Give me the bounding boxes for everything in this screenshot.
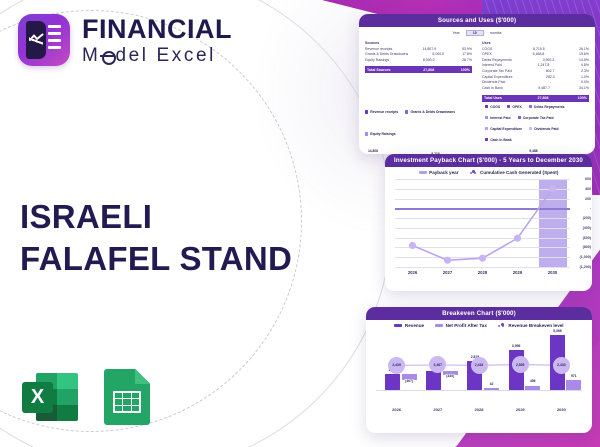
- investment-payback-title: Investment Payback Chart ($'000) - 5 Yea…: [385, 154, 592, 167]
- control-year-label: Year: [452, 31, 459, 35]
- uses-label: Cash in Bank: [482, 86, 503, 92]
- logo-list-lines-icon: [48, 25, 62, 55]
- payback-y-tick: -: [590, 206, 591, 210]
- payback-y-tick: (1,200): [580, 265, 591, 269]
- breakeven-net-profit-bar: (330): [443, 371, 458, 375]
- brand-wordmark: FINANCIAL M del Excel: [82, 16, 232, 65]
- legend-item-payback-year: Payback year: [419, 170, 459, 175]
- page-title-line2: FALAFEL STAND: [20, 238, 330, 280]
- legend-swatch-cumulative-cash: [470, 172, 478, 174]
- payback-y-tick: (600): [583, 236, 591, 240]
- uses-legend-item: Cash in Bank: [485, 138, 512, 142]
- legend-label-payback-year: Payback year: [429, 170, 458, 175]
- sources-total-value: 27,808: [408, 68, 434, 72]
- uses-header: Uses: [482, 41, 589, 45]
- legend-swatch-revenue: [394, 324, 402, 327]
- sources-legend-swatch: [365, 132, 368, 135]
- breakeven-level-bubble: 2,439: [388, 357, 405, 374]
- sources-total-label: Total Sources: [367, 68, 391, 72]
- legend-item-cumulative-cash: Cumulative Cash Generated (Spent): [470, 170, 559, 175]
- legend-label-revenue: Revenue: [405, 323, 424, 328]
- uses-legend-swatch: [485, 116, 488, 119]
- sources-legend-label: Revenue receipts: [370, 110, 398, 114]
- sources-table: Sources Revenue receipts14,807.953.9%Gra…: [365, 41, 472, 102]
- payback-y-axis: 600400200-(200)(400)(600)(800)(1,000)(1,…: [571, 179, 591, 267]
- legend-swatch-payback-year: [419, 171, 427, 174]
- uses-total-value: 27,808: [522, 96, 548, 100]
- uses-chart-legend: COGSOPEXDebts RepaymentsInterest PaidCor…: [479, 102, 595, 143]
- breakeven-revenue-bar: 1,848: [426, 371, 441, 390]
- payback-x-tick: 2030: [535, 270, 570, 275]
- uses-bar-label: 9,488: [529, 149, 537, 153]
- legend-item-net-profit: Net Profit After Tax: [435, 323, 487, 328]
- sources-uses-tables: Sources Revenue receipts14,807.953.9%Gra…: [359, 37, 595, 102]
- page-title-line1: ISRAELI: [20, 196, 330, 238]
- uses-legend-label: Dividends Paid: [534, 127, 558, 131]
- uses-legend-swatch: [485, 138, 488, 141]
- payback-gridline: [395, 267, 570, 268]
- payback-x-tick: 2028: [465, 270, 500, 275]
- uses-total-row: Total Uses 27,808 100%: [482, 95, 589, 102]
- payback-y-tick: 400: [585, 187, 591, 191]
- uses-value: 9,487.7: [524, 86, 550, 92]
- sources-total-row: Total Sources 27,808 100%: [365, 66, 472, 73]
- sources-value: 8,000.0: [409, 58, 435, 64]
- control-year-value[interactable]: 10: [466, 30, 484, 36]
- breakeven-x-tick: 2027: [417, 407, 458, 412]
- logo-sparkline-icon: [29, 33, 44, 43]
- payback-x-tick: 2026: [395, 270, 430, 275]
- payback-y-tick: (400): [583, 226, 591, 230]
- sources-and-uses-title: Sources and Uses ($'000): [359, 14, 595, 27]
- sources-bar-chart: 14,8085,0008,000: [365, 145, 423, 154]
- uses-table: Uses COGS8,719.526.1%OPEX5,468.819.6%Deb…: [482, 41, 589, 102]
- sources-legend-item: Revenue receipts: [365, 105, 398, 120]
- breakeven-x-tick: 2029: [500, 407, 541, 412]
- brand-name-line1: FINANCIAL: [82, 16, 232, 43]
- uses-row: Cash in Bank9,487.734.1%: [482, 86, 589, 92]
- payback-x-tick: 2029: [500, 270, 535, 275]
- sheets-fold-corner: [135, 369, 150, 384]
- investment-payback-plot: 600400200-(200)(400)(600)(800)(1,000)(1,…: [395, 179, 570, 267]
- uses-pct: 34.1%: [571, 86, 589, 92]
- brand-o-glyph-icon: [101, 48, 114, 62]
- google-sheets-file-icon[interactable]: [104, 369, 150, 425]
- brand-lockup: FINANCIAL M del Excel: [18, 14, 232, 66]
- investment-payback-legend: Payback year Cumulative Cash Generated (…: [385, 167, 592, 177]
- file-format-icons: X: [22, 369, 150, 425]
- breakeven-group: 1,546(467): [385, 374, 417, 390]
- investment-payback-card[interactable]: Investment Payback Chart ($'000) - 5 Yea…: [385, 154, 592, 291]
- payback-line-series: [395, 179, 570, 267]
- sources-and-uses-card[interactable]: Sources and Uses ($'000) Year 10 months …: [359, 14, 595, 154]
- uses-legend-item: COGS: [485, 105, 500, 109]
- breakeven-plot: 1,546(467)1,848(330)2,819423,9564565,366…: [376, 331, 582, 405]
- sources-label: Equity Raisings: [365, 58, 389, 64]
- uses-legend-item: Corporate Tax Paid: [518, 116, 554, 120]
- breakeven-card[interactable]: Breakeven Chart ($'000) Revenue Net Prof…: [366, 307, 592, 433]
- breakeven-net-profit-label: 971: [571, 374, 578, 378]
- sources-uses-bar-charts: 14,8085,0008,000 8,7195,4683,9921,248603…: [359, 143, 595, 154]
- uses-legend-item: Debts Repayments: [529, 105, 565, 109]
- control-months-label: months: [490, 31, 502, 35]
- uses-legend-label: Interest Paid: [490, 116, 510, 120]
- sheets-table-glyph: [113, 391, 141, 413]
- legend-item-breakeven-level: Revenue Breakeven level: [498, 323, 564, 328]
- breakeven-level-bubble: 2,433: [553, 357, 570, 374]
- uses-legend-item: Interest Paid: [485, 116, 511, 120]
- breakeven-title: Breakeven Chart ($'000): [366, 307, 592, 320]
- sources-pct: 28.7%: [454, 58, 472, 64]
- uses-legend-label: Capital Expenditure: [490, 127, 522, 131]
- payback-x-axis: 20262027202820292030: [395, 270, 570, 275]
- uses-legend-label: OPEX: [512, 105, 521, 109]
- sources-legend-label: Grants & Debts Drawdowns: [410, 110, 455, 114]
- sources-header: Sources: [365, 41, 472, 45]
- legend-label-cumulative-cash: Cumulative Cash Generated (Spent): [480, 170, 558, 175]
- breakeven-revenue-label: 3,956: [511, 344, 521, 348]
- legend-label-net-profit: Net Profit After Tax: [446, 323, 487, 328]
- poster-canvas: FINANCIAL M del Excel ISRAELI FALAFEL ST…: [0, 0, 600, 447]
- breakeven-net-profit-bar: 42: [484, 388, 499, 390]
- uses-bar-chart: 8,7195,4683,9921,248603282-9,488: [431, 145, 538, 154]
- sources-uses-controls: Year 10 months: [359, 30, 595, 36]
- breakeven-x-axis: 20262027202820292030: [376, 407, 582, 412]
- breakeven-net-profit-label: 42: [489, 382, 494, 386]
- excel-file-icon[interactable]: X: [22, 369, 78, 425]
- breakeven-revenue-bar: 1,546: [385, 374, 400, 390]
- brand-line2-after: del Excel: [115, 46, 216, 65]
- uses-legend-label: COGS: [490, 105, 500, 109]
- uses-legend-item: Dividends Paid: [529, 127, 559, 131]
- sources-legend-item: Grants & Debts Drawdowns: [405, 105, 455, 120]
- uses-legend-item: OPEX: [507, 105, 522, 109]
- breakeven-level-bubble: 2,505: [512, 356, 529, 373]
- payback-y-tick: (1,000): [580, 255, 591, 259]
- uses-legend-label: Corporate Tax Paid: [523, 116, 554, 120]
- uses-legend-swatch: [507, 105, 510, 108]
- breakeven-net-profit-bar: (467): [402, 374, 417, 380]
- legend-swatch-breakeven-level: [498, 325, 506, 327]
- legend-swatch-net-profit: [435, 324, 443, 327]
- sources-chart-legend: Revenue receiptsGrants & Debts Drawdowns…: [359, 102, 479, 143]
- sources-bar-label: 14,808: [368, 149, 378, 153]
- legend-item-revenue: Revenue: [394, 323, 424, 328]
- breakeven-level-bubble: 2,434: [471, 357, 488, 374]
- sources-legend-swatch: [365, 110, 368, 113]
- breakeven-net-profit-label: (330): [446, 374, 455, 378]
- sources-total-pct: 100%: [452, 68, 470, 72]
- uses-legend-swatch: [529, 127, 532, 130]
- legend-label-breakeven-level: Revenue Breakeven level: [508, 323, 563, 328]
- uses-total-label: Total Uses: [484, 96, 502, 100]
- breakeven-group: 1,848(330): [426, 371, 458, 390]
- breakeven-net-profit-label: 456: [529, 379, 536, 383]
- payback-y-tick: 600: [585, 177, 591, 181]
- breakeven-net-profit-label: (467): [405, 379, 414, 383]
- uses-legend-swatch: [485, 105, 488, 108]
- breakeven-x-tick: 2030: [541, 407, 582, 412]
- sources-legend-label: Equity Raisings: [370, 132, 395, 136]
- payback-y-tick: (800): [583, 245, 591, 249]
- brand-name-line2: M del Excel: [82, 46, 232, 65]
- sources-legend-swatch: [405, 110, 408, 113]
- brand-line2-before: M: [82, 46, 100, 65]
- uses-total-pct: 100%: [569, 96, 587, 100]
- sources-legend-item: Equity Raisings: [365, 127, 396, 142]
- excel-x-badge: X: [22, 382, 53, 413]
- uses-legend-swatch: [529, 105, 532, 108]
- uses-legend-item: Capital Expenditure: [485, 127, 522, 131]
- breakeven-revenue-label: 5,366: [553, 329, 563, 333]
- uses-legend-swatch: [518, 116, 521, 119]
- breakeven-net-profit-bar: 971: [566, 380, 581, 390]
- breakeven-x-tick: 2026: [376, 407, 417, 412]
- uses-legend-label: Cash in Bank: [490, 138, 511, 142]
- breakeven-x-tick: 2028: [458, 407, 499, 412]
- sources-row: Equity Raisings8,000.028.7%: [365, 58, 472, 64]
- breakeven-net-profit-bar: 456: [525, 386, 540, 391]
- payback-y-tick: 200: [585, 197, 591, 201]
- payback-x-tick: 2027: [430, 270, 465, 275]
- uses-legend-swatch: [485, 127, 488, 130]
- payback-y-tick: (200): [583, 216, 591, 220]
- uses-legend-label: Debts Repayments: [534, 105, 565, 109]
- page-title: ISRAELI FALAFEL STAND: [20, 196, 330, 280]
- financial-model-logo-icon: [18, 14, 70, 66]
